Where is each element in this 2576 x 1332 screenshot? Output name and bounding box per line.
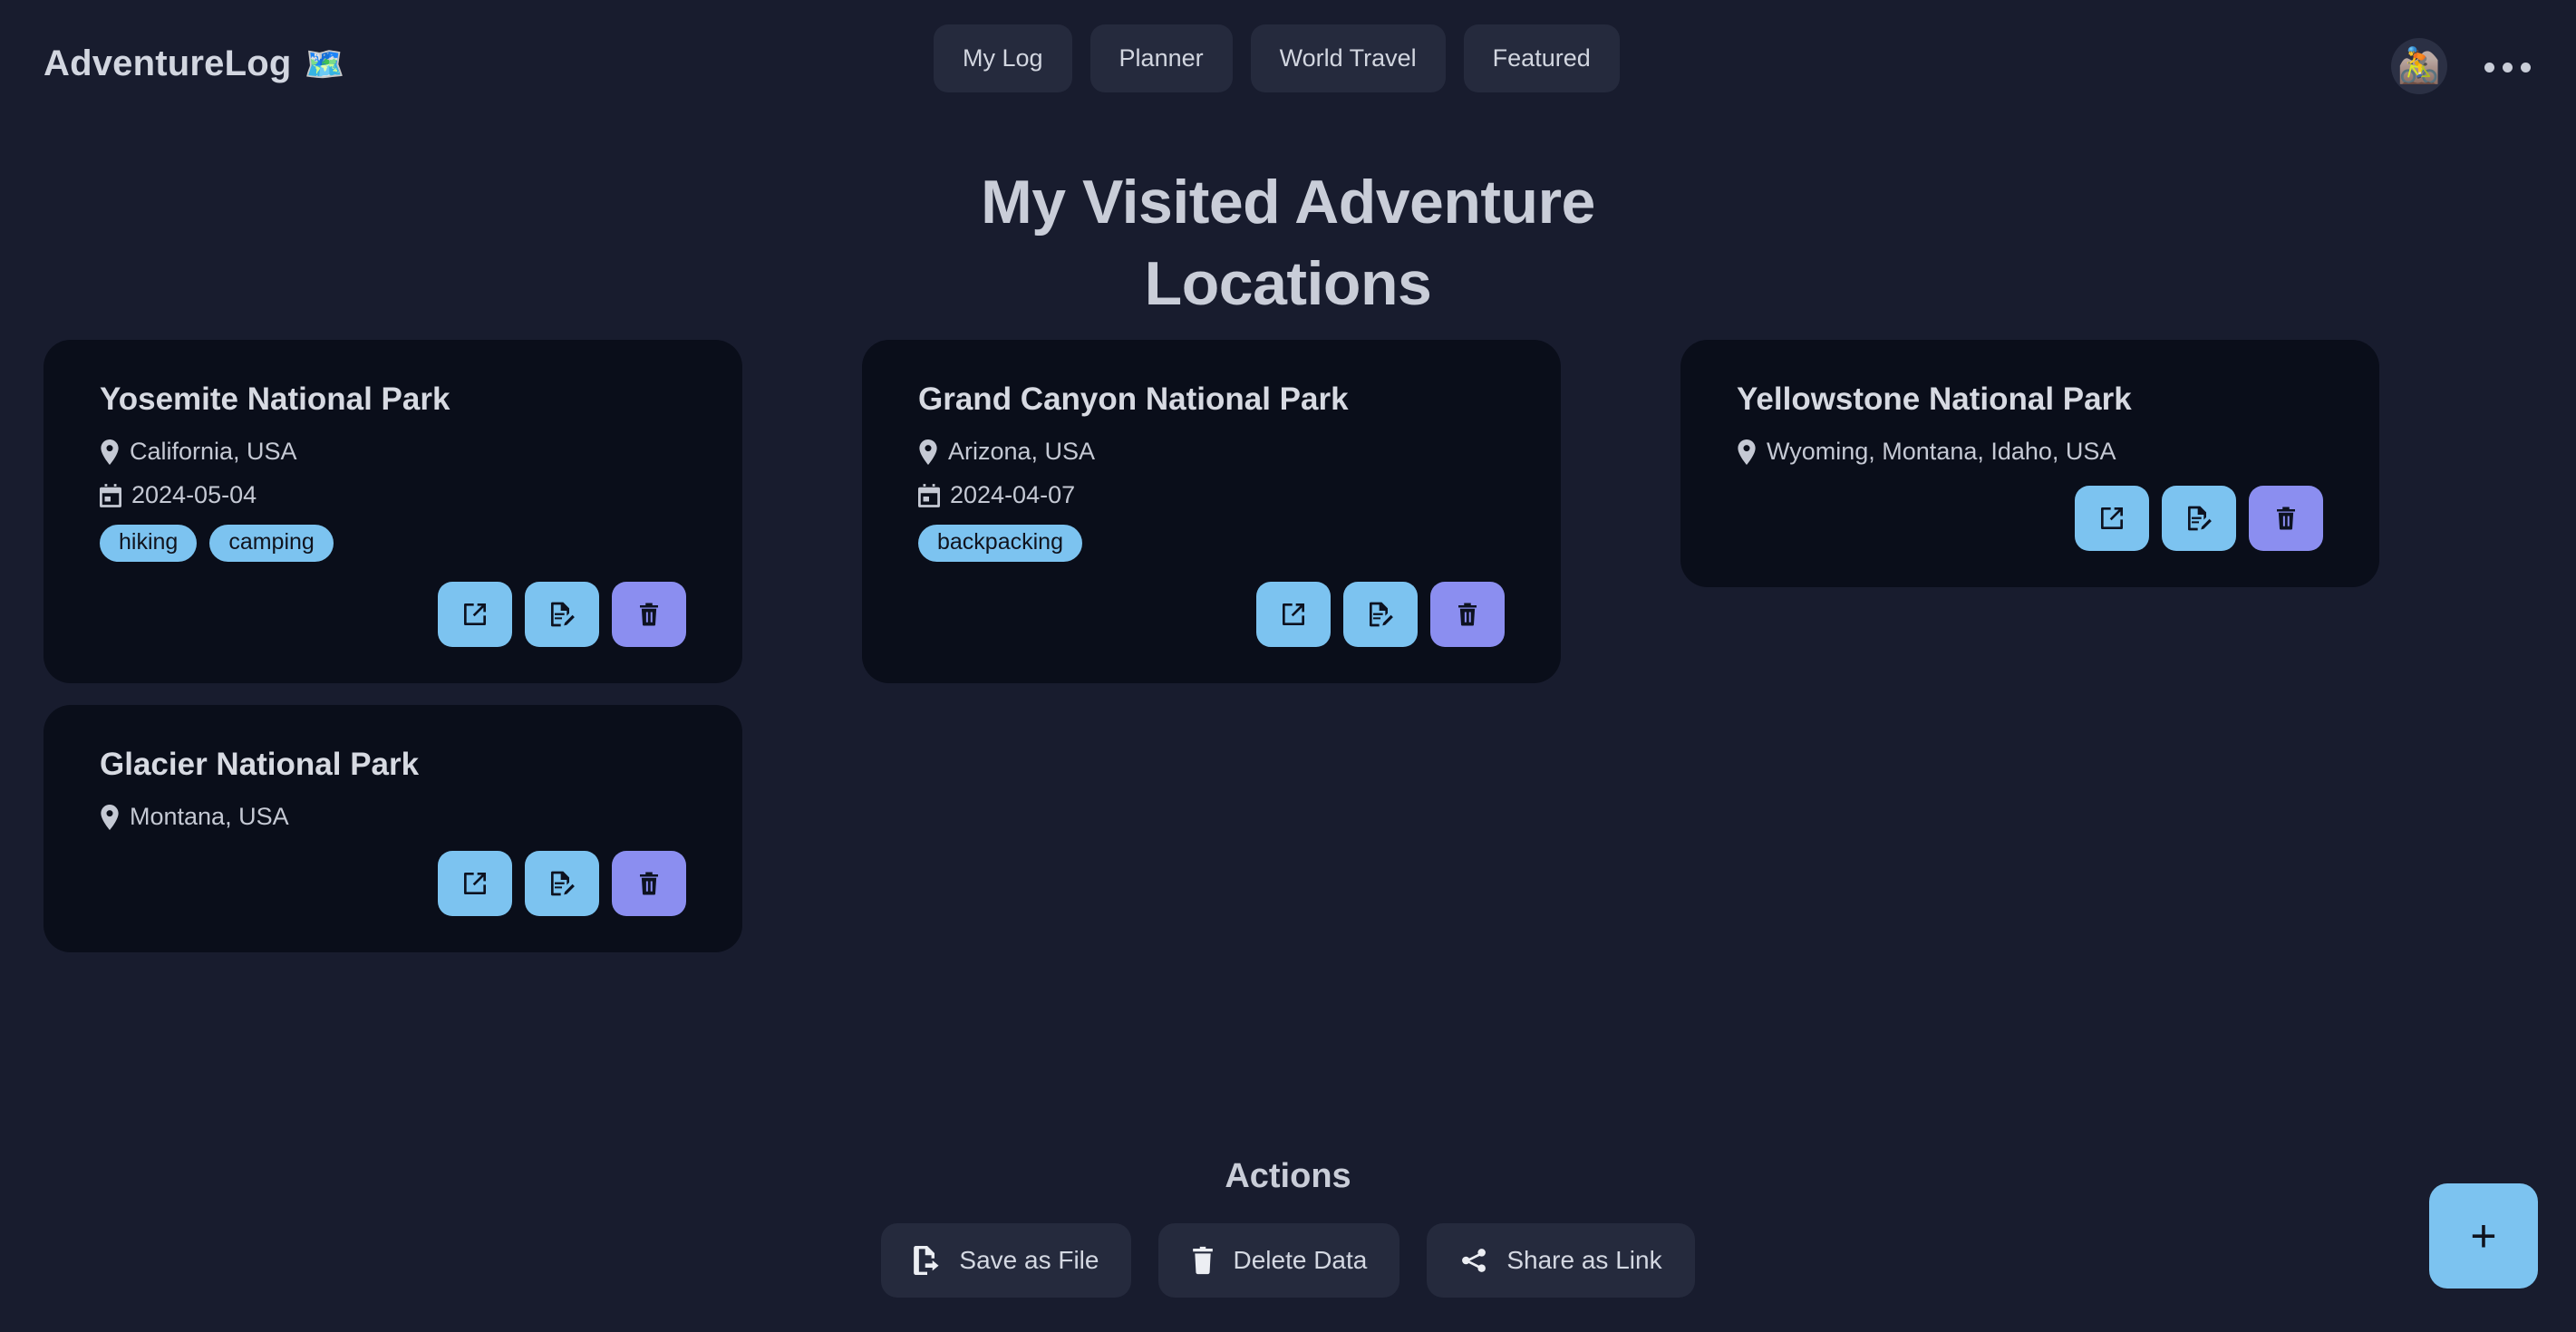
dot-icon: [2484, 63, 2494, 72]
external-link-icon: [460, 600, 489, 629]
open-external-button[interactable]: [2075, 486, 2149, 551]
actions-section: Actions Save as File Delete Data: [0, 1157, 2576, 1332]
card-tags: hiking camping: [100, 525, 686, 562]
delete-button[interactable]: [612, 582, 686, 647]
file-export-icon: [914, 1246, 941, 1275]
nav-tab-my-log[interactable]: My Log: [934, 24, 1072, 92]
edit-document-icon: [2184, 504, 2213, 533]
location-pin-icon: [100, 805, 120, 830]
card-location-label: Montana, USA: [130, 803, 289, 831]
nav-tab-planner[interactable]: Planner: [1090, 24, 1233, 92]
world-map-icon: 🗺️: [305, 48, 345, 81]
share-as-link-button[interactable]: Share as Link: [1427, 1223, 1694, 1298]
main-nav: My Log Planner World Travel Featured: [934, 24, 1620, 92]
save-as-file-label: Save as File: [959, 1246, 1099, 1275]
cyclist-icon: 🚵: [2397, 49, 2440, 83]
card-location: California, USA: [100, 438, 686, 466]
actions-row: Save as File Delete Data Share as Link: [881, 1223, 1694, 1298]
edit-button[interactable]: [2162, 486, 2236, 551]
card-action-row: [1737, 486, 2323, 551]
card-date: 2024-04-07: [918, 481, 1505, 509]
edit-button[interactable]: [525, 851, 599, 916]
card-date: 2024-05-04: [100, 481, 686, 509]
actions-title: Actions: [1225, 1157, 1351, 1196]
card-title: Yosemite National Park: [100, 381, 686, 418]
card-location: Arizona, USA: [918, 438, 1505, 466]
share-icon: [1459, 1246, 1488, 1275]
location-pin-icon: [1737, 439, 1757, 465]
delete-button[interactable]: [2249, 486, 2323, 551]
card-location-label: Arizona, USA: [948, 438, 1095, 466]
card-action-row: [918, 582, 1505, 647]
adventure-card: Grand Canyon National Park Arizona, USA …: [862, 340, 1561, 683]
add-adventure-fab[interactable]: +: [2429, 1183, 2538, 1289]
nav-tab-world-travel[interactable]: World Travel: [1251, 24, 1446, 92]
open-external-button[interactable]: [438, 851, 512, 916]
grid-column-1: Yosemite National Park California, USA 2…: [44, 340, 742, 952]
grid-column-3: Yellowstone National Park Wyoming, Monta…: [1680, 340, 2379, 587]
location-pin-icon: [918, 439, 938, 465]
top-bar: AdventureLog 🗺️ My Log Planner World Tra…: [0, 0, 2576, 136]
external-link-icon: [460, 869, 489, 898]
card-tags: backpacking: [918, 525, 1505, 562]
card-location: Wyoming, Montana, Idaho, USA: [1737, 438, 2323, 466]
share-as-link-label: Share as Link: [1506, 1246, 1661, 1275]
card-location-label: Wyoming, Montana, Idaho, USA: [1767, 438, 2116, 466]
card-title: Grand Canyon National Park: [918, 381, 1505, 418]
edit-button[interactable]: [1343, 582, 1418, 647]
delete-data-label: Delete Data: [1233, 1246, 1367, 1275]
adventure-card: Yosemite National Park California, USA 2…: [44, 340, 742, 683]
card-action-row: [100, 851, 686, 916]
dot-icon: [2503, 63, 2513, 72]
adventure-card: Glacier National Park Montana, USA: [44, 705, 742, 952]
tag-chip[interactable]: hiking: [100, 525, 197, 562]
open-external-button[interactable]: [438, 582, 512, 647]
card-date-label: 2024-04-07: [950, 481, 1075, 509]
delete-button[interactable]: [612, 851, 686, 916]
trash-icon: [1454, 601, 1481, 628]
overflow-menu-button[interactable]: [2467, 27, 2547, 107]
edit-document-icon: [1366, 600, 1395, 629]
nav-tab-featured[interactable]: Featured: [1464, 24, 1620, 92]
adventure-card: Yellowstone National Park Wyoming, Monta…: [1680, 340, 2379, 587]
calendar-icon: [918, 484, 940, 507]
grid-column-2: Grand Canyon National Park Arizona, USA …: [862, 340, 1561, 683]
external-link-icon: [1279, 600, 1308, 629]
edit-document-icon: [547, 600, 576, 629]
card-title: Yellowstone National Park: [1737, 381, 2323, 418]
location-pin-icon: [100, 439, 120, 465]
delete-data-button[interactable]: Delete Data: [1158, 1223, 1399, 1298]
trash-icon: [1191, 1246, 1215, 1275]
tag-chip[interactable]: camping: [209, 525, 334, 562]
edit-document-icon: [547, 869, 576, 898]
avatar[interactable]: 🚵: [2391, 38, 2447, 94]
calendar-icon: [100, 484, 121, 507]
tag-chip[interactable]: backpacking: [918, 525, 1082, 562]
adventure-card-grid: Yosemite National Park California, USA 2…: [44, 340, 2465, 952]
dot-icon: [2521, 63, 2531, 72]
brand-label: AdventureLog: [44, 43, 292, 84]
app-root: AdventureLog 🗺️ My Log Planner World Tra…: [0, 0, 2576, 1332]
external-link-icon: [2097, 504, 2126, 533]
card-location: Montana, USA: [100, 803, 686, 831]
card-date-label: 2024-05-04: [131, 481, 257, 509]
trash-icon: [2272, 505, 2300, 532]
trash-icon: [635, 870, 663, 897]
trash-icon: [635, 601, 663, 628]
edit-button[interactable]: [525, 582, 599, 647]
card-title: Glacier National Park: [100, 747, 686, 783]
save-as-file-button[interactable]: Save as File: [881, 1223, 1131, 1298]
app-brand[interactable]: AdventureLog 🗺️: [44, 43, 345, 84]
page-title: My Visited Adventure Locations: [880, 161, 1696, 325]
delete-button[interactable]: [1430, 582, 1505, 647]
open-external-button[interactable]: [1256, 582, 1331, 647]
card-location-label: California, USA: [130, 438, 297, 466]
card-action-row: [100, 582, 686, 647]
